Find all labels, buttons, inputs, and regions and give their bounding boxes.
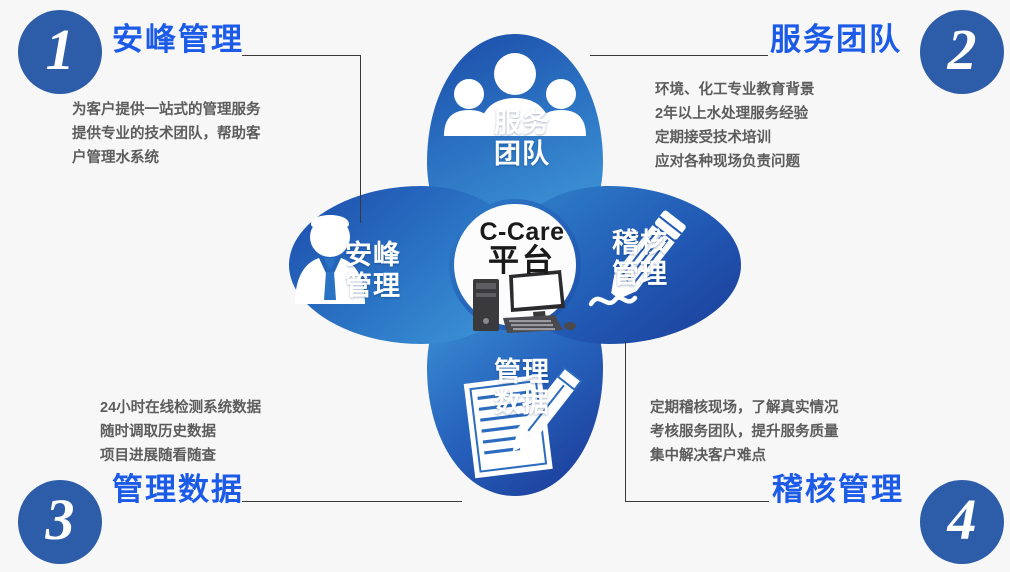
section-2-line-2: 2年以上水处理服务经验 bbox=[655, 102, 815, 126]
number-badge-2: 2 bbox=[920, 10, 1004, 94]
section-4-line-1: 定期稽核现场，了解真实情况 bbox=[650, 396, 839, 420]
number-badge-4: 4 bbox=[920, 480, 1004, 564]
hub-brand-en: C-Care bbox=[455, 220, 589, 245]
section-4-line-3: 集中解决客户难点 bbox=[650, 444, 839, 468]
section-body-3: 24小时在线检测系统数据 随时调取历史数据 项目进展随看随查 bbox=[100, 396, 261, 468]
petal-label-left: 安峰 管理 bbox=[345, 240, 431, 302]
number-badge-3: 3 bbox=[18, 480, 102, 564]
section-1-line-1: 为客户提供一站式的管理服务 bbox=[72, 98, 261, 122]
connector-line-4-vertical bbox=[625, 341, 626, 502]
section-2-line-4: 应对各种现场负责问题 bbox=[655, 150, 815, 174]
connector-line-1-horizontal bbox=[242, 55, 361, 56]
section-1-line-2: 提供专业的技术团队，帮助客 bbox=[72, 122, 261, 146]
section-title-3: 管理数据 bbox=[112, 474, 244, 505]
petal-label-top: 服务 团队 bbox=[479, 108, 565, 170]
number-badge-1: 1 bbox=[18, 10, 102, 94]
petal-label-right: 稽核 管理 bbox=[612, 228, 698, 290]
section-4-line-2: 考核服务团队，提升服务质量 bbox=[650, 420, 839, 444]
section-title-4: 稽核管理 bbox=[772, 474, 904, 505]
section-body-1: 为客户提供一站式的管理服务 提供专业的技术团队，帮助客 户管理水系统 bbox=[72, 98, 261, 170]
connector-line-4-horizontal bbox=[625, 501, 769, 502]
connector-line-2-horizontal bbox=[590, 55, 768, 56]
section-3-line-3: 项目进展随看随查 bbox=[100, 444, 261, 468]
section-3-line-1: 24小时在线检测系统数据 bbox=[100, 396, 261, 420]
petal-label-bottom: 管理 数据 bbox=[479, 357, 565, 419]
section-3-line-2: 随时调取历史数据 bbox=[100, 420, 261, 444]
section-2-line-1: 环境、化工专业教育背景 bbox=[655, 78, 815, 102]
connector-line-1-vertical bbox=[360, 55, 361, 223]
section-title-2: 服务团队 bbox=[770, 24, 902, 55]
section-title-1: 安峰管理 bbox=[112, 24, 244, 55]
section-body-2: 环境、化工专业教育背景 2年以上水处理服务经验 定期接受技术培训 应对各种现场负… bbox=[655, 78, 815, 174]
section-2-line-3: 定期接受技术培训 bbox=[655, 126, 815, 150]
section-body-4: 定期稽核现场，了解真实情况 考核服务团队，提升服务质量 集中解决客户难点 bbox=[650, 396, 839, 468]
hub-brand-cn: 平台 bbox=[455, 245, 589, 276]
infographic-canvas: 服务 团队 稽核 管理 管理 数据 安峰 管理 C-Care 平台 1 安峰管理… bbox=[0, 0, 1010, 572]
connector-line-3-horizontal bbox=[242, 501, 462, 502]
section-1-line-3: 户管理水系统 bbox=[72, 146, 261, 170]
